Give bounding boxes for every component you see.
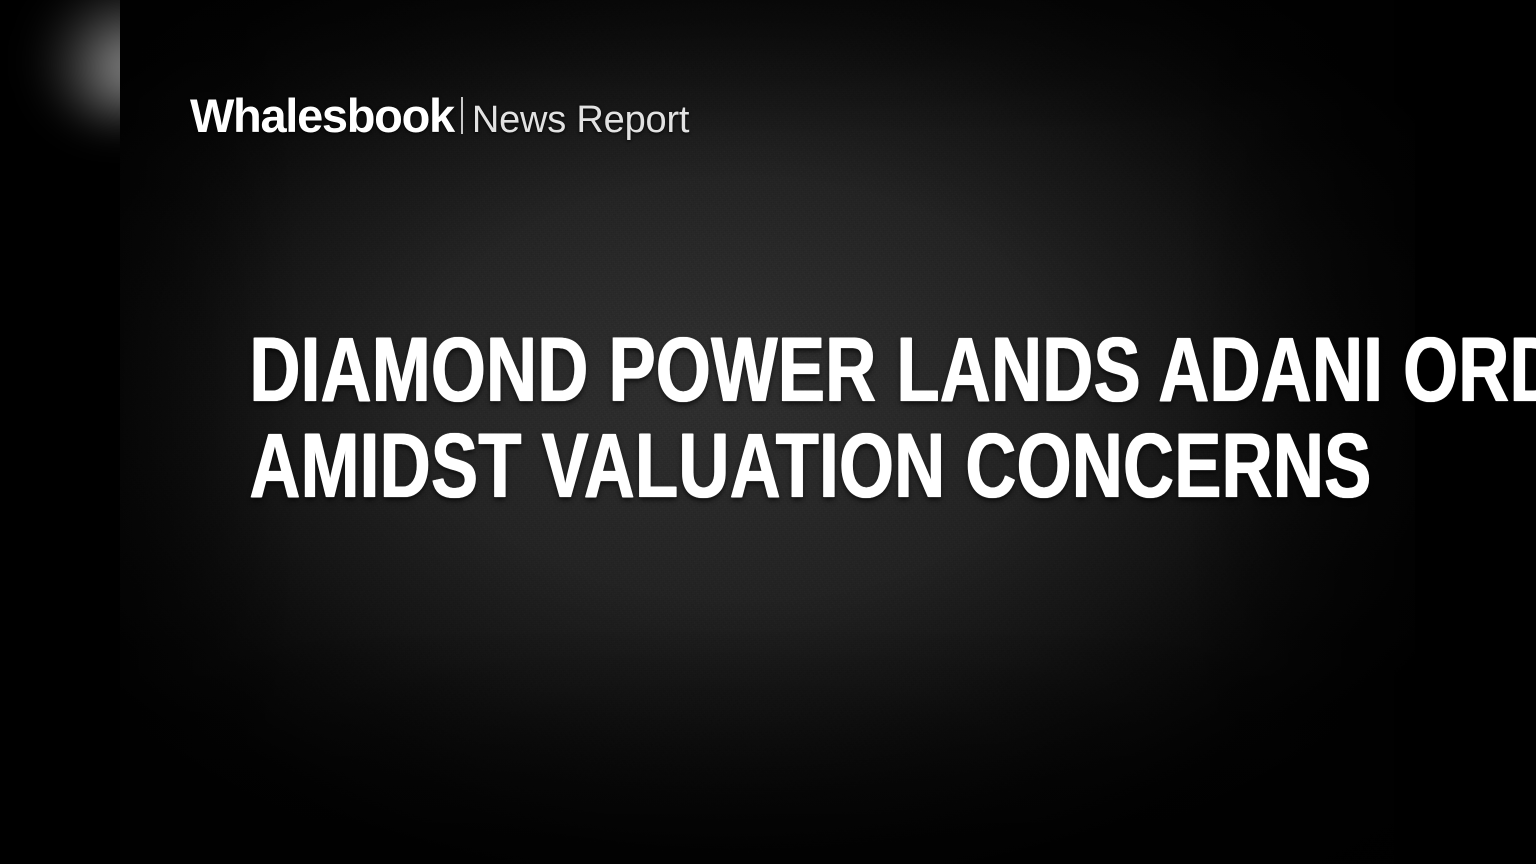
news-report-card: Whalesbook News Report DIAMOND POWER LAN… (0, 0, 1536, 864)
left-letterbox-band (0, 0, 120, 864)
brand-name: Whalesbook (190, 92, 454, 139)
brand-lockup: Whalesbook News Report (190, 92, 689, 139)
brand-divider-icon (461, 97, 463, 134)
brand-subtitle: News Report (472, 101, 689, 139)
right-letterbox-band (1415, 0, 1536, 864)
